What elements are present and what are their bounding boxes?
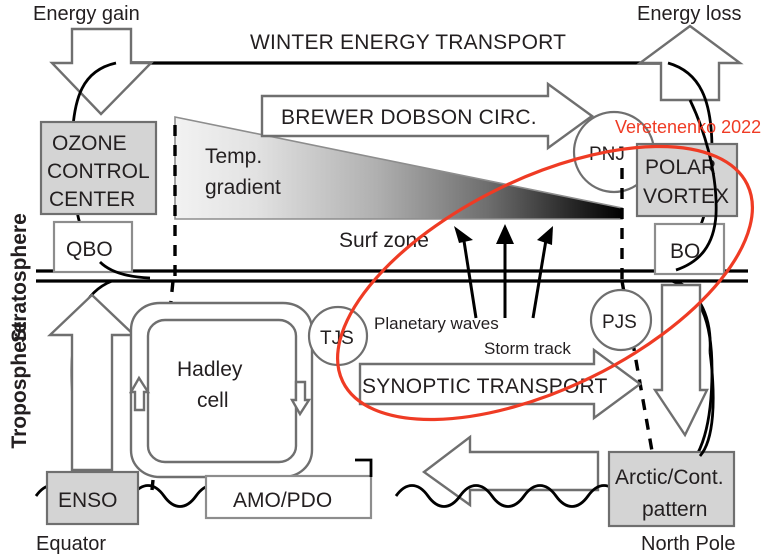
- arctic-label-line2: pattern: [642, 498, 707, 521]
- energy-loss-label: Energy loss: [637, 3, 742, 25]
- equator-axis-label: Equator: [36, 533, 106, 555]
- energy-loss-arrow-icon: [640, 26, 740, 100]
- temp-gradient-label-line2: gradient: [205, 176, 281, 199]
- north-pole-axis-label: North Pole: [641, 533, 736, 555]
- storm-track-label: Storm track: [484, 339, 571, 358]
- amo-pdo-riser: [355, 460, 371, 477]
- energy-gain-arrow-icon: [52, 29, 151, 114]
- ozone-label-line1: OZONE: [52, 132, 127, 155]
- polar-vortex-label-line1: POLAR: [645, 156, 716, 179]
- arctic-label-line1: Arctic/Cont.: [615, 466, 724, 489]
- energy-gain-label: Energy gain: [33, 3, 140, 25]
- planetary-waves-label: Planetary waves: [374, 314, 499, 333]
- ozone-label-line2: CONTROL: [47, 160, 150, 183]
- temp-gradient-label-line1: Temp.: [205, 145, 262, 168]
- hadley-cell-label-line1: Hadley: [177, 358, 243, 381]
- qbo-label: QBO: [66, 238, 113, 261]
- hadley-cell-label-line2: cell: [197, 389, 229, 412]
- diagram-canvas: Energy gain Energy loss WINTER ENERGY TR…: [0, 0, 782, 557]
- tjs-label: TJS: [320, 328, 354, 349]
- amo-pdo-label: AMO/PDO: [233, 489, 332, 512]
- troposphere-axis-label: Troposphere: [8, 321, 31, 448]
- ozone-label-line3: CENTER: [49, 188, 135, 211]
- surface-return-arrow: [424, 437, 598, 505]
- equator-uplift-arrow: [50, 295, 134, 470]
- veretenenko-annotation: Veretenenko 2022: [615, 117, 761, 137]
- brewer-dobson-label: BREWER DOBSON CIRC.: [281, 106, 537, 129]
- enso-label: ENSO: [58, 489, 118, 512]
- winter-energy-transport-label: WINTER ENERGY TRANSPORT: [250, 31, 566, 54]
- pjs-label: PJS: [602, 312, 637, 333]
- polar-downwelling-arrow: [655, 285, 707, 435]
